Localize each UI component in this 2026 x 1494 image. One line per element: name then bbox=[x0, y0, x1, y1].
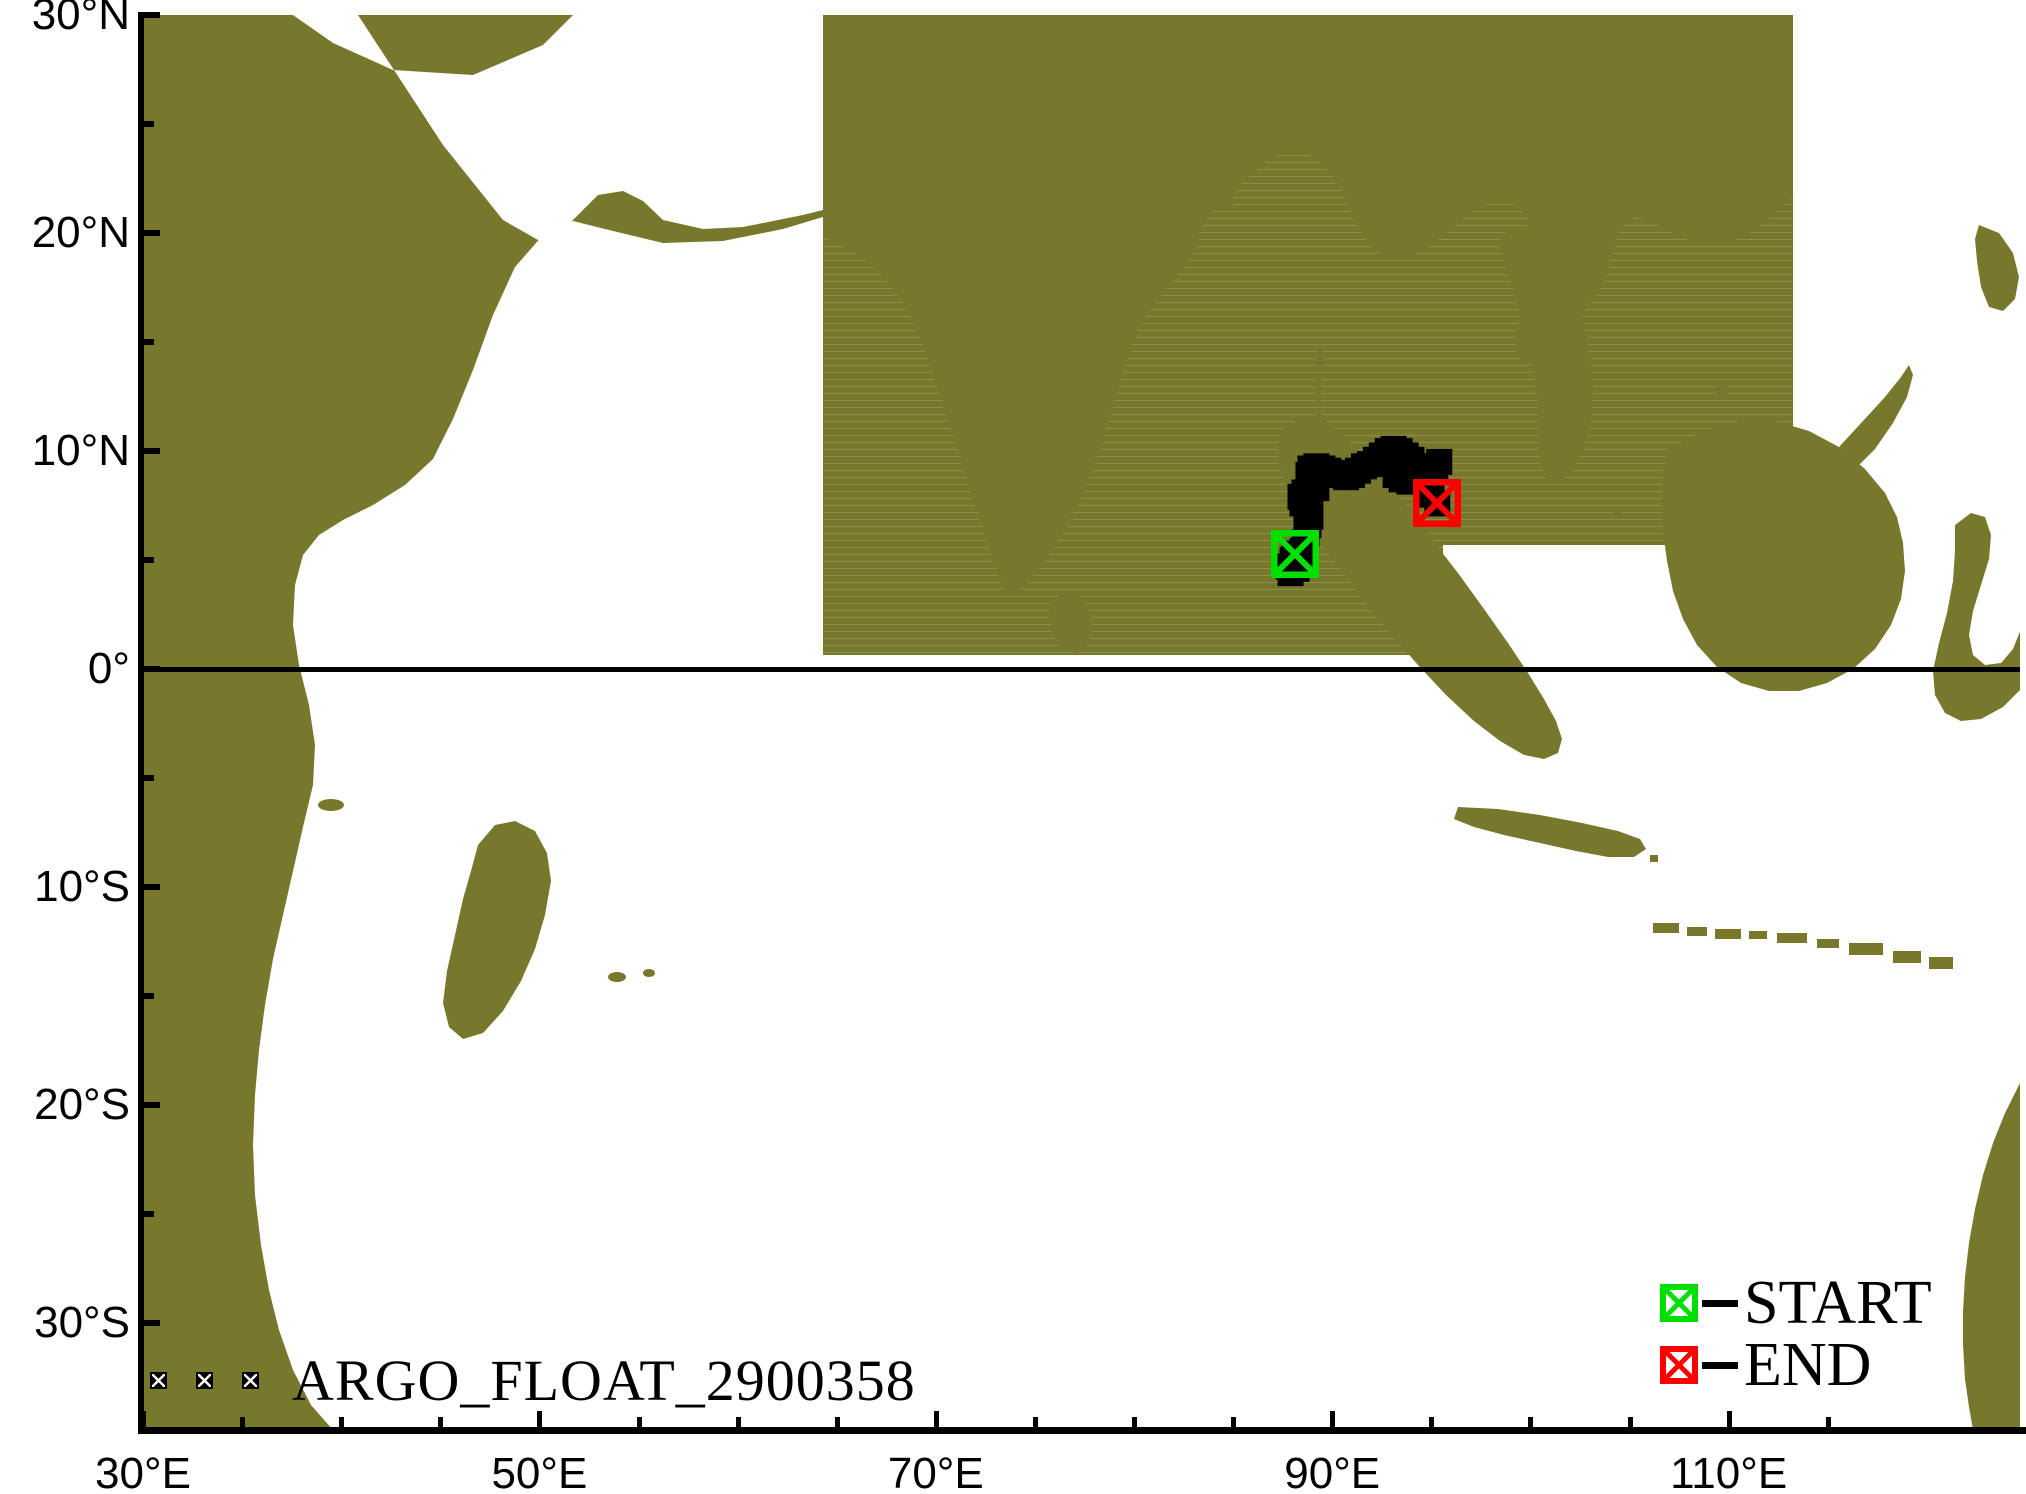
x-tick bbox=[1033, 1417, 1038, 1428]
square-x-marker-icon bbox=[150, 1372, 167, 1389]
x-tick bbox=[240, 1417, 245, 1428]
y-tick bbox=[143, 448, 160, 454]
x-tick bbox=[835, 1417, 840, 1428]
legend-label-start: START bbox=[1744, 1272, 1932, 1334]
x-tick bbox=[537, 1411, 542, 1428]
x-tick bbox=[438, 1417, 443, 1428]
y-tick-label: 20°N bbox=[32, 211, 130, 255]
x-tick bbox=[1132, 1417, 1137, 1428]
legend-dash-start bbox=[1702, 1300, 1738, 1307]
y-tick bbox=[143, 1102, 160, 1108]
map-figure: 30°N20°N10°N0°10°S20°S30°S 30°E50°E70°E9… bbox=[0, 0, 2026, 1494]
legend-argo-track: ARGO_FLOAT_2900358 bbox=[150, 1352, 916, 1408]
x-tick-label: 110°E bbox=[1670, 1452, 1787, 1494]
end-marker[interactable] bbox=[1413, 479, 1461, 527]
y-tick bbox=[143, 666, 160, 672]
legend-dash-end bbox=[1702, 1362, 1738, 1369]
y-tick bbox=[143, 339, 154, 345]
legend-row-end: END bbox=[1660, 1334, 2000, 1396]
axis-line-bottom bbox=[138, 1427, 2026, 1434]
x-tick bbox=[1231, 1417, 1236, 1428]
y-tick bbox=[143, 993, 154, 999]
y-tick bbox=[143, 557, 154, 563]
x-tick-label: 50°E bbox=[491, 1452, 587, 1494]
y-tick bbox=[143, 12, 160, 18]
x-tick bbox=[1628, 1417, 1633, 1428]
land-lesser-sunda bbox=[1653, 895, 1993, 985]
equator-line bbox=[143, 667, 2020, 672]
square-x-marker-icon bbox=[242, 1372, 259, 1389]
y-tick bbox=[143, 1320, 160, 1326]
start-marker[interactable] bbox=[1271, 530, 1319, 578]
x-tick bbox=[1727, 1411, 1732, 1428]
legend-start-end: START END bbox=[1660, 1272, 2000, 1396]
legend-argo-track-label: ARGO_FLOAT_2900358 bbox=[292, 1347, 916, 1414]
x-tick bbox=[141, 1411, 146, 1428]
y-tick-label: 20°S bbox=[34, 1083, 130, 1127]
y-tick bbox=[143, 121, 154, 127]
x-tick bbox=[1826, 1417, 1831, 1428]
green-square-x-marker-icon bbox=[1660, 1284, 1698, 1322]
land-africa-arabia bbox=[143, 15, 903, 1430]
y-tick-label: 10°N bbox=[32, 429, 130, 473]
y-tick-label: 30°N bbox=[32, 0, 130, 37]
map-plot-area[interactable] bbox=[143, 15, 2020, 1430]
x-tick-label: 30°E bbox=[95, 1452, 191, 1494]
x-tick-label: 70°E bbox=[888, 1452, 984, 1494]
legend-label-end: END bbox=[1744, 1334, 1871, 1396]
y-tick-label: 30°S bbox=[34, 1301, 130, 1345]
x-tick bbox=[934, 1411, 939, 1428]
y-tick-label: 10°S bbox=[34, 865, 130, 909]
square-x-marker-icon bbox=[196, 1372, 213, 1389]
x-tick bbox=[637, 1417, 642, 1428]
x-tick bbox=[1330, 1411, 1335, 1428]
x-tick bbox=[339, 1417, 344, 1428]
y-tick bbox=[143, 884, 160, 890]
y-tick-label: 0° bbox=[88, 647, 130, 691]
land-maritime-southeast-asia bbox=[1493, 225, 2020, 905]
y-tick bbox=[143, 1211, 154, 1217]
x-tick bbox=[736, 1417, 741, 1428]
axis-line-left bbox=[138, 12, 144, 1433]
y-tick bbox=[143, 775, 154, 781]
y-tick bbox=[143, 230, 160, 236]
x-tick bbox=[1429, 1417, 1434, 1428]
x-tick bbox=[1528, 1417, 1533, 1428]
red-square-x-marker-icon bbox=[1660, 1346, 1698, 1384]
x-tick-label: 90°E bbox=[1284, 1452, 1380, 1494]
legend-row-start: START bbox=[1660, 1272, 2000, 1334]
